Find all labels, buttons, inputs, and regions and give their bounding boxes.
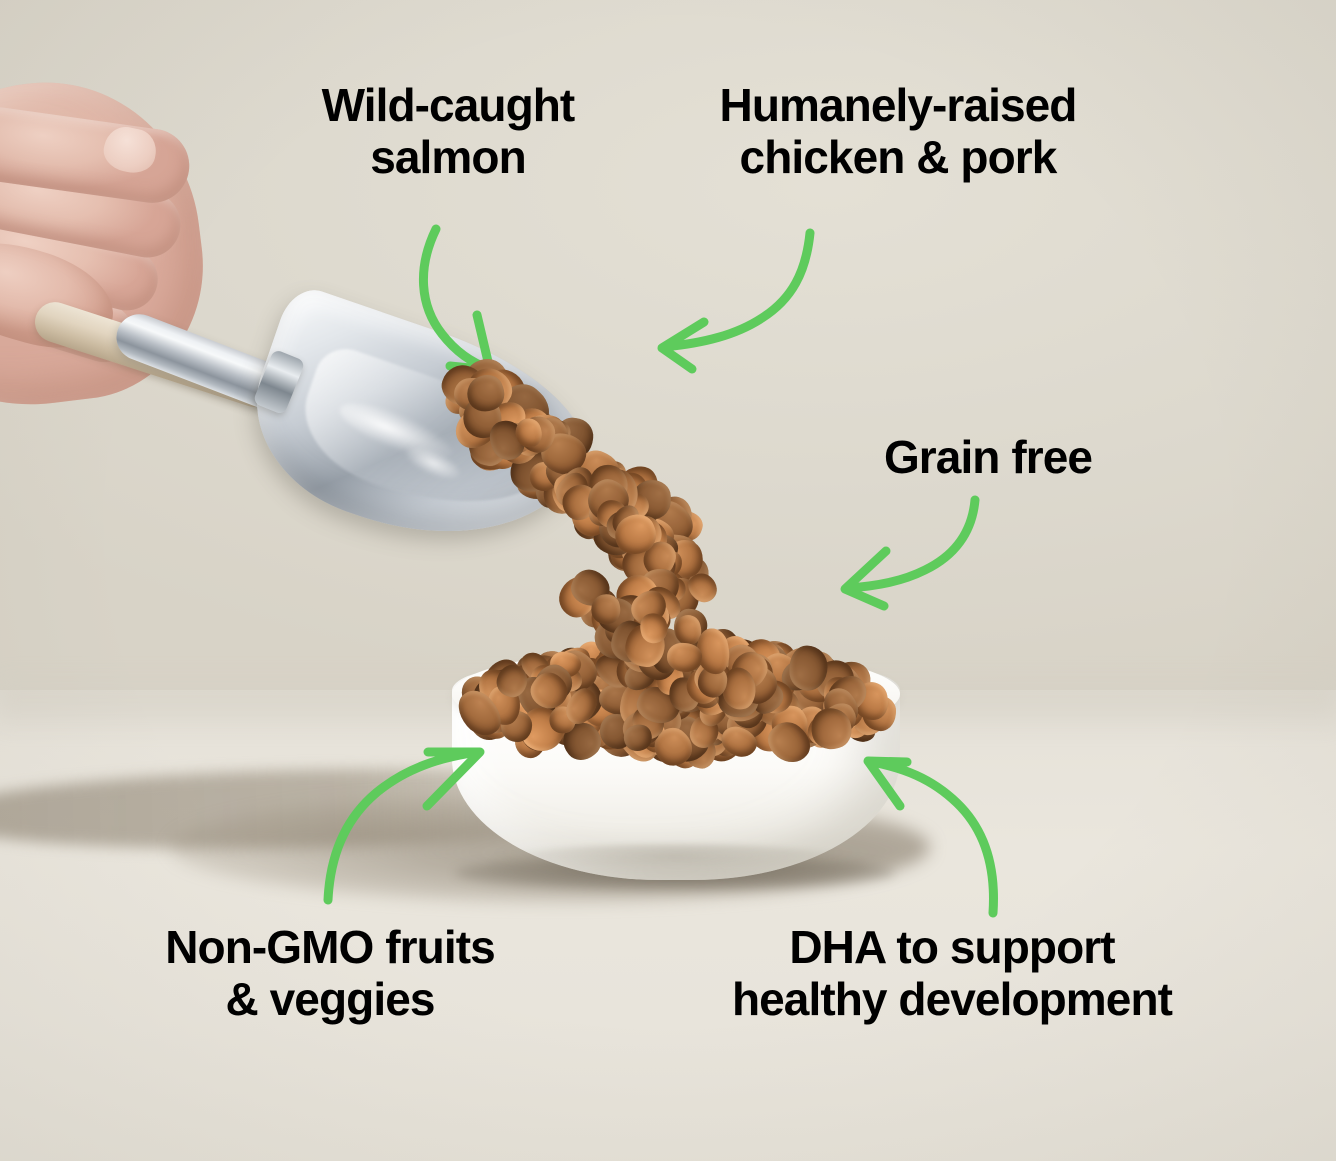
infographic-scene: Wild-caught salmon Humanely-raised chick… <box>0 0 1336 1161</box>
falling-kibble <box>0 0 1336 1161</box>
